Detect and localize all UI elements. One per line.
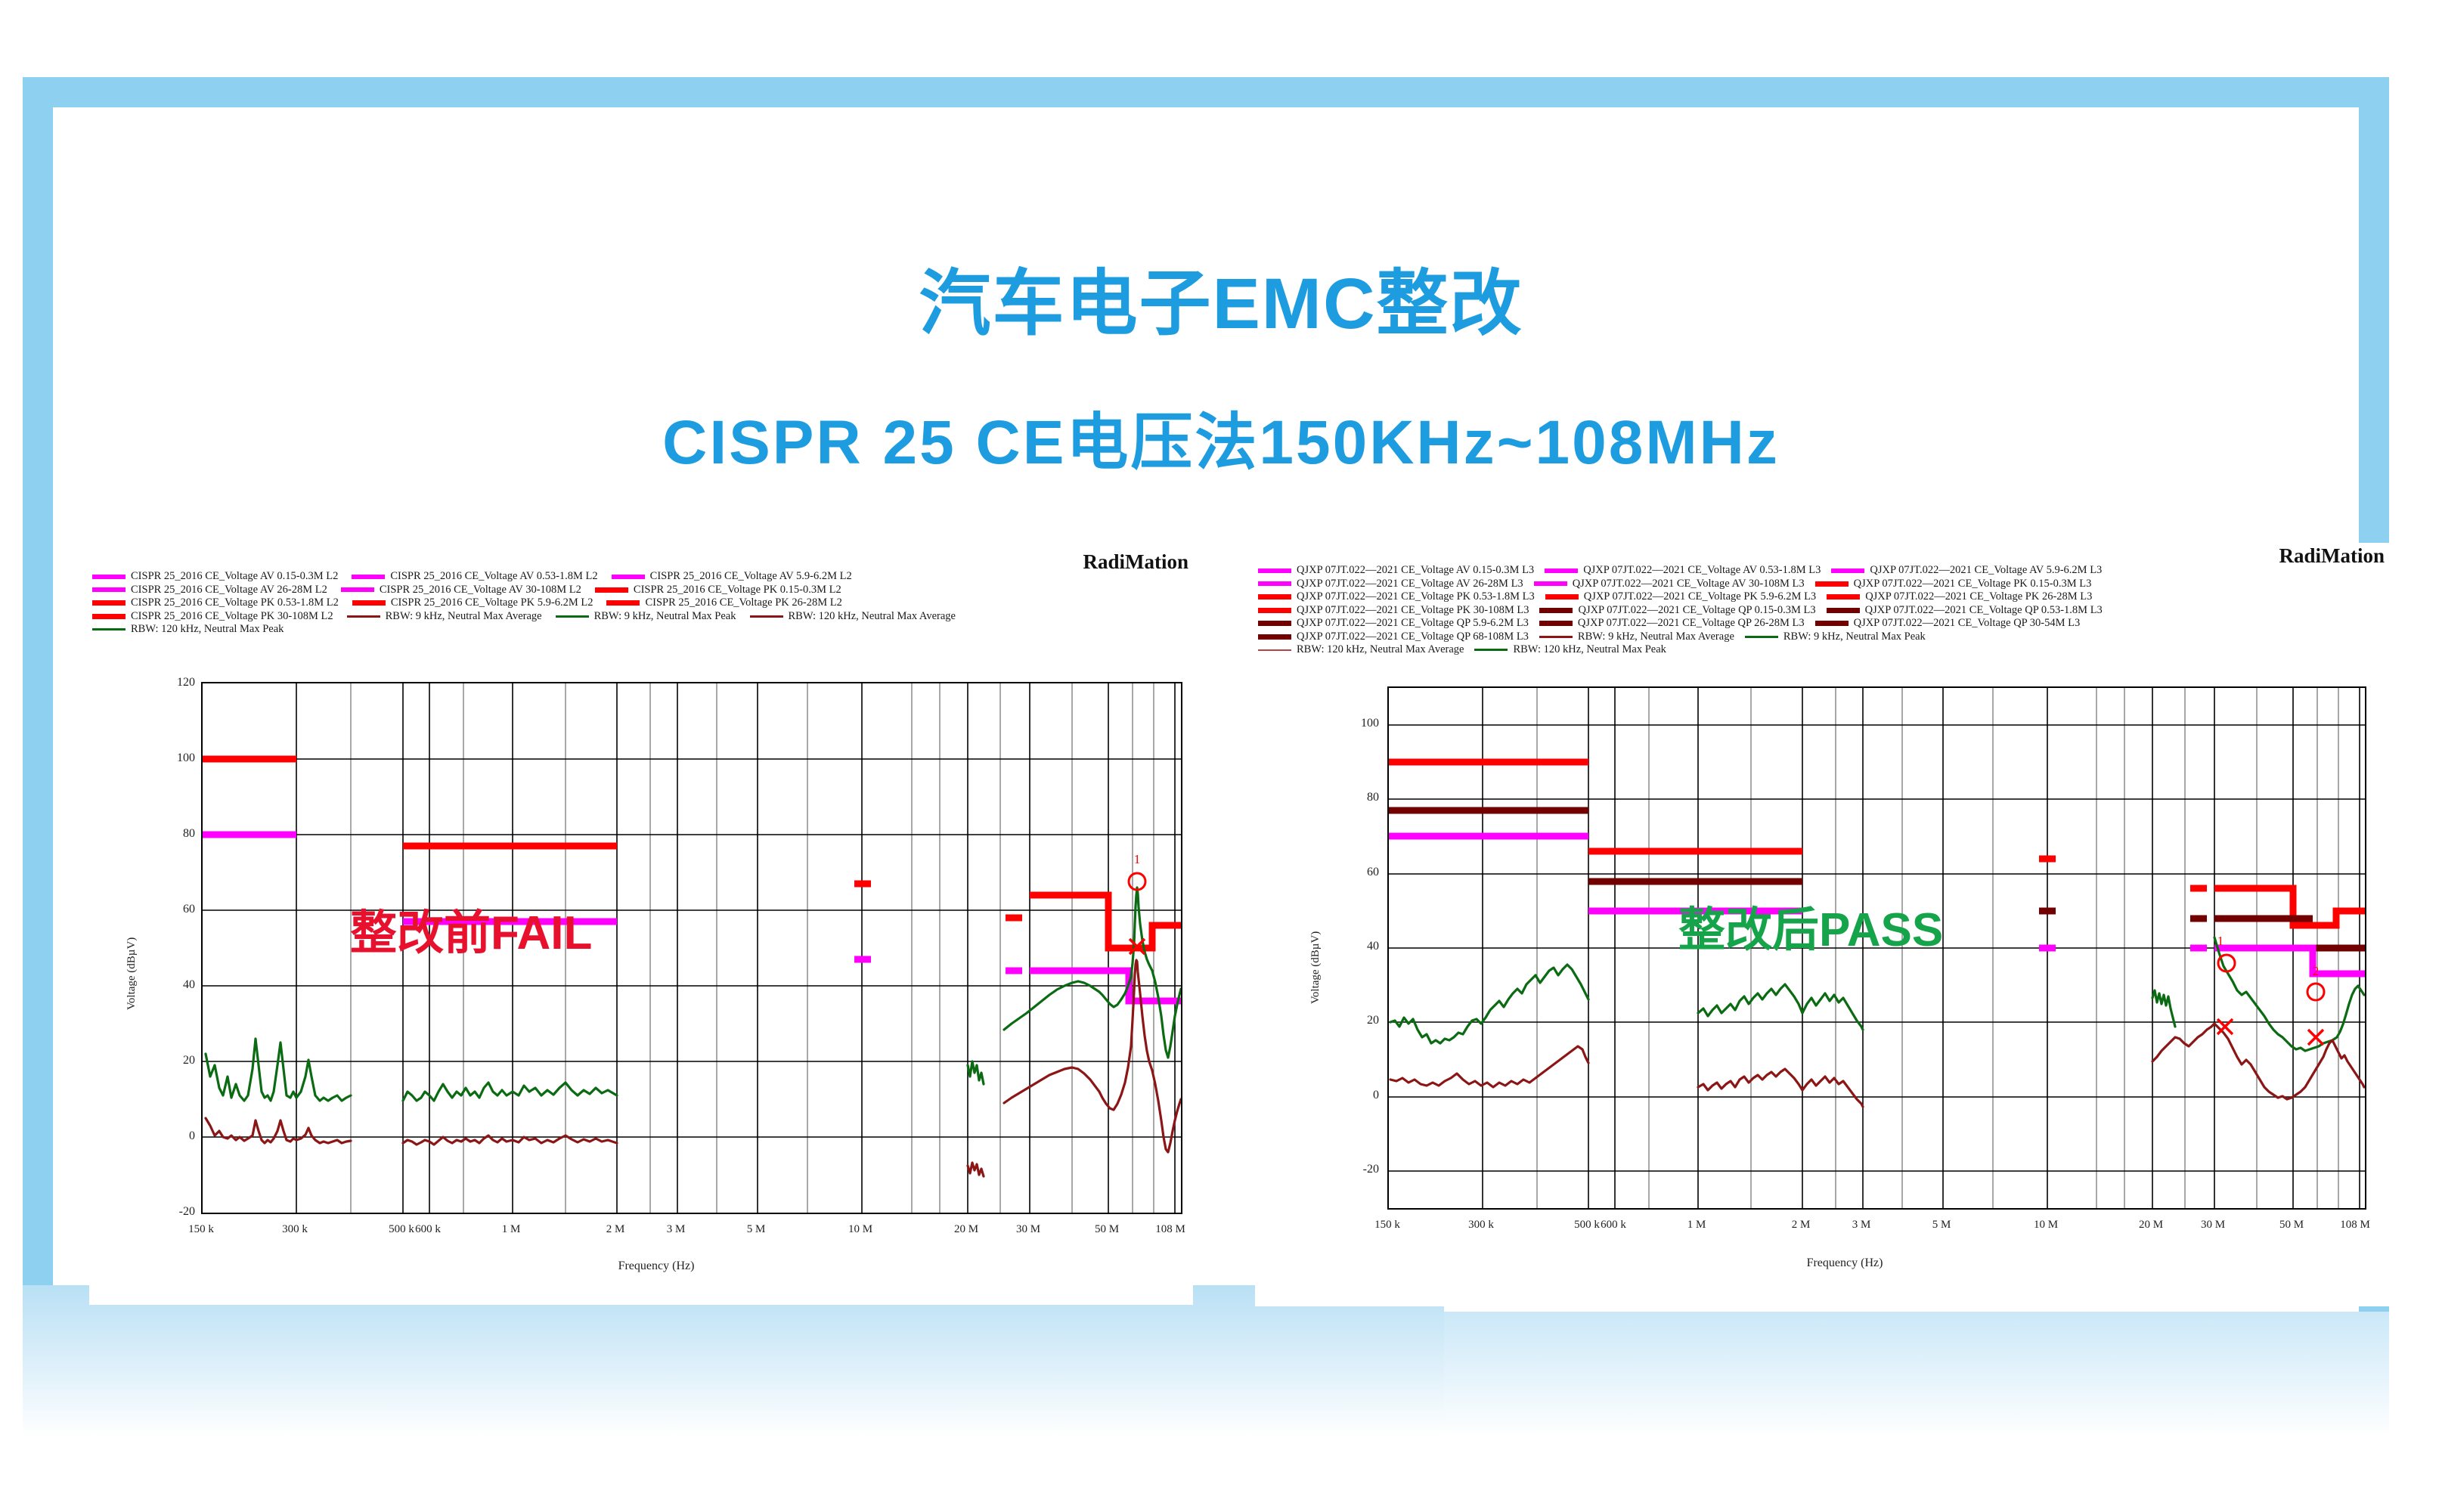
legend-swatch-icon xyxy=(1745,636,1778,638)
annotation-pass: 整改后PASS xyxy=(1678,907,1943,954)
legend-label: QJXP 07JT.022—2021 CE_Voltage AV 0.15-0.… xyxy=(1297,564,1534,577)
legend-item: CISPR 25_2016 CE_Voltage AV 30-108M L2 xyxy=(338,584,581,596)
legend-row: QJXP 07JT.022—2021 CE_Voltage PK 30-108M… xyxy=(1255,604,2389,618)
legend-item: CISPR 25_2016 CE_Voltage PK 0.15-0.3M L2 xyxy=(592,584,841,596)
y-axis-label-left: Voltage (dBµV) xyxy=(126,937,138,1010)
legend-swatch-icon xyxy=(595,587,628,593)
legend-swatch-icon xyxy=(1827,608,1860,613)
legend-swatch-icon xyxy=(1474,649,1508,651)
legend-label: RBW: 120 kHz, Neutral Max Average xyxy=(789,610,956,623)
xtick-left-5: 2 M xyxy=(593,1223,638,1236)
legend-swatch-icon xyxy=(1539,636,1573,638)
xtick-right-1: 300 k xyxy=(1458,1219,1504,1232)
ytick-right-4: 20 xyxy=(1340,1014,1379,1027)
legend-label: RBW: 120 kHz, Neutral Max Average xyxy=(1297,643,1464,656)
legend-swatch-icon xyxy=(341,587,374,592)
legend-item: RBW: 120 kHz, Neutral Max Peak xyxy=(89,623,284,636)
xtick-right-0: 150 k xyxy=(1365,1219,1410,1232)
legend-item: QJXP 07JT.022—2021 CE_Voltage AV 5.9-6.2… xyxy=(1828,564,2102,577)
page-title: 汽车电子EMC整改 xyxy=(0,268,2442,340)
legend-swatch-icon xyxy=(1258,569,1291,573)
legend-swatch-icon xyxy=(1545,569,1578,573)
y-axis-label-right: Voltage (dBµV) xyxy=(1309,931,1322,1004)
legend-item: RBW: 120 kHz, Neutral Max Average xyxy=(1255,643,1464,656)
ytick-right-5: 0 xyxy=(1340,1089,1379,1102)
ytick-left-4: 40 xyxy=(156,978,195,992)
trace-darkred-average-right xyxy=(1390,1024,2364,1107)
legend-item: QJXP 07JT.022—2021 CE_Voltage AV 0.15-0.… xyxy=(1255,564,1534,577)
legend-label: RBW: 9 kHz, Neutral Max Average xyxy=(1578,631,1734,643)
legend-item: CISPR 25_2016 CE_Voltage PK 26-28M L2 xyxy=(603,596,841,609)
legend-label: RBW: 9 kHz, Neutral Max Average xyxy=(386,610,542,623)
legend-item: QJXP 07JT.022—2021 CE_Voltage PK 0.15-0.… xyxy=(1812,578,2092,590)
xtick-right-9: 20 M xyxy=(2128,1219,2174,1232)
legend-label: CISPR 25_2016 CE_Voltage AV 30-108M L2 xyxy=(380,584,581,596)
legend-row: CISPR 25_2016 CE_Voltage PK 30-108M L2RB… xyxy=(89,610,1193,624)
legend-item: QJXP 07JT.022—2021 CE_Voltage AV 26-28M … xyxy=(1255,578,1523,590)
legend-label: CISPR 25_2016 CE_Voltage AV 26-28M L2 xyxy=(131,584,327,596)
ytick-left-5: 20 xyxy=(156,1054,195,1067)
legend-swatch-icon xyxy=(92,587,126,592)
legend-swatch-icon xyxy=(92,628,126,631)
legend-label: CISPR 25_2016 CE_Voltage AV 0.53-1.8M L2 xyxy=(390,570,597,583)
legend-row: CISPR 25_2016 CE_Voltage AV 0.15-0.3M L2… xyxy=(89,570,1193,584)
legend-item: RBW: 9 kHz, Neutral Max Peak xyxy=(1742,631,1926,643)
ytick-left-7: -20 xyxy=(151,1205,195,1219)
legend-swatch-icon xyxy=(1258,594,1291,600)
legend-row: QJXP 07JT.022—2021 CE_Voltage AV 0.15-0.… xyxy=(1255,564,2389,578)
legend-swatch-icon xyxy=(1258,581,1291,586)
legend-item: RBW: 120 kHz, Neutral Max Average xyxy=(747,610,956,623)
legend-item: RBW: 9 kHz, Neutral Max Average xyxy=(344,610,542,623)
legend-row: RBW: 120 kHz, Neutral Max Peak xyxy=(89,623,1193,637)
legend-label: QJXP 07JT.022—2021 CE_Voltage PK 0.53-1.… xyxy=(1297,590,1535,603)
legend-item: CISPR 25_2016 CE_Voltage AV 5.9-6.2M L2 xyxy=(609,570,852,583)
ytick-right-3: 40 xyxy=(1340,940,1379,953)
legend-row: QJXP 07JT.022—2021 CE_Voltage PK 0.53-1.… xyxy=(1255,590,2389,604)
xtick-right-10: 30 M xyxy=(2190,1219,2236,1232)
ytick-left-0: 120 xyxy=(156,676,195,689)
plot-area-left: 1 xyxy=(201,682,1182,1214)
legend-item: CISPR 25_2016 CE_Voltage AV 0.53-1.8M L2 xyxy=(349,570,597,583)
legend-row: RBW: 120 kHz, Neutral Max AverageRBW: 12… xyxy=(1255,643,2389,657)
legend-item: QJXP 07JT.022—2021 CE_Voltage QP 68-108M… xyxy=(1255,631,1529,643)
legend-label: QJXP 07JT.022—2021 CE_Voltage PK 30-108M… xyxy=(1297,604,1529,617)
legend-item: QJXP 07JT.022—2021 CE_Voltage QP 30-54M … xyxy=(1812,617,2081,630)
xtick-left-9: 20 M xyxy=(944,1223,989,1236)
legend-item: RBW: 120 kHz, Neutral Max Peak xyxy=(1471,643,1666,656)
svg-text:1: 1 xyxy=(1134,852,1141,866)
legend-swatch-icon xyxy=(92,600,126,606)
xtick-left-8: 10 M xyxy=(838,1223,883,1236)
legend-label: RBW: 120 kHz, Neutral Max Peak xyxy=(131,623,284,636)
legend-label: QJXP 07JT.022—2021 CE_Voltage AV 0.53-1.… xyxy=(1583,564,1821,577)
legend-label: QJXP 07JT.022—2021 CE_Voltage AV 30-108M… xyxy=(1573,578,1805,590)
legend-swatch-icon xyxy=(352,575,385,579)
legend-label: QJXP 07JT.022—2021 CE_Voltage QP 0.53-1.… xyxy=(1865,604,2103,617)
legend-swatch-icon xyxy=(1258,634,1291,640)
legend-item: QJXP 07JT.022—2021 CE_Voltage AV 0.53-1.… xyxy=(1542,564,1821,577)
xtick-right-3: 600 k xyxy=(1591,1219,1636,1232)
legend-swatch-icon xyxy=(1815,621,1849,626)
ytick-right-1: 80 xyxy=(1340,791,1379,804)
legend-swatch-icon xyxy=(612,575,645,579)
legend-label: QJXP 07JT.022—2021 CE_Voltage AV 5.9-6.2… xyxy=(1870,564,2102,577)
xtick-right-12: 108 M xyxy=(2332,1219,2378,1232)
legend-right: QJXP 07JT.022—2021 CE_Voltage AV 0.15-0.… xyxy=(1255,564,2389,657)
xtick-left-4: 1 M xyxy=(488,1223,534,1236)
annotation-fail: 整改前FAIL xyxy=(350,910,592,957)
x-axis-label-left: Frequency (Hz) xyxy=(558,1259,755,1273)
legend-swatch-icon xyxy=(347,615,380,618)
legend-swatch-icon xyxy=(92,575,126,579)
bottom-gradient-left xyxy=(23,1285,1444,1436)
xtick-left-10: 30 M xyxy=(1006,1223,1051,1236)
svg-text:1: 1 xyxy=(2217,934,2224,948)
xtick-left-6: 3 M xyxy=(653,1223,699,1236)
legend-item: QJXP 07JT.022—2021 CE_Voltage PK 5.9-6.2… xyxy=(1542,590,1816,603)
trace-darkred-average-left xyxy=(206,960,1181,1176)
ytick-left-6: 0 xyxy=(156,1129,195,1143)
ytick-right-2: 60 xyxy=(1340,866,1379,879)
legend-label: QJXP 07JT.022—2021 CE_Voltage QP 5.9-6.2… xyxy=(1297,617,1529,630)
legend-item: CISPR 25_2016 CE_Voltage AV 0.15-0.3M L2 xyxy=(89,570,338,583)
xtick-right-8: 10 M xyxy=(2023,1219,2069,1232)
legend-item: CISPR 25_2016 CE_Voltage PK 0.53-1.8M L2 xyxy=(89,596,339,609)
legend-item: RBW: 9 kHz, Neutral Max Average xyxy=(1536,631,1734,643)
xtick-left-11: 50 M xyxy=(1084,1223,1130,1236)
legend-row: CISPR 25_2016 CE_Voltage AV 26-28M L2CIS… xyxy=(89,584,1193,597)
ytick-left-2: 80 xyxy=(156,827,195,841)
legend-item: QJXP 07JT.022—2021 CE_Voltage QP 5.9-6.2… xyxy=(1255,617,1529,630)
x-axis-label-right: Frequency (Hz) xyxy=(1746,1256,1943,1270)
legend-label: QJXP 07JT.022—2021 CE_Voltage PK 5.9-6.2… xyxy=(1584,590,1816,603)
legend-item: CISPR 25_2016 CE_Voltage AV 26-28M L2 xyxy=(89,584,327,596)
legend-swatch-icon xyxy=(1539,621,1573,626)
legend-label: RBW: 120 kHz, Neutral Max Peak xyxy=(1513,643,1666,656)
legend-item: CISPR 25_2016 CE_Voltage PK 30-108M L2 xyxy=(89,610,333,623)
legend-row: QJXP 07JT.022—2021 CE_Voltage AV 26-28M … xyxy=(1255,578,2389,591)
legend-label: QJXP 07JT.022—2021 CE_Voltage QP 26-28M … xyxy=(1578,617,1805,630)
legend-item: QJXP 07JT.022—2021 CE_Voltage AV 30-108M… xyxy=(1531,578,1805,590)
xtick-left-7: 5 M xyxy=(733,1223,779,1236)
legend-item: QJXP 07JT.022—2021 CE_Voltage PK 0.53-1.… xyxy=(1255,590,1535,603)
legend-swatch-icon xyxy=(1534,581,1567,586)
legend-label: CISPR 25_2016 CE_Voltage PK 0.15-0.3M L2 xyxy=(634,584,841,596)
xtick-left-3: 600 k xyxy=(405,1223,451,1236)
page-subtitle: CISPR 25 CE电压法150KHz~108MHz xyxy=(0,412,2442,474)
svg-text:2: 2 xyxy=(2313,964,2320,978)
legend-row: QJXP 07JT.022—2021 CE_Voltage QP 5.9-6.2… xyxy=(1255,617,2389,631)
ytick-right-0: 100 xyxy=(1340,717,1379,730)
legend-label: QJXP 07JT.022—2021 CE_Voltage PK 0.15-0.… xyxy=(1854,578,2092,590)
legend-left: CISPR 25_2016 CE_Voltage AV 0.15-0.3M L2… xyxy=(89,570,1193,637)
legend-swatch-icon xyxy=(92,614,126,619)
legend-label: CISPR 25_2016 CE_Voltage PK 26-28M L2 xyxy=(645,596,841,609)
chart-before-modification: RadiMation CISPR 25_2016 CE_Voltage AV 0… xyxy=(89,549,1193,1305)
legend-item: RBW: 9 kHz, Neutral Max Peak xyxy=(553,610,736,623)
legend-item: CISPR 25_2016 CE_Voltage PK 5.9-6.2M L2 xyxy=(349,596,593,609)
legend-swatch-icon xyxy=(1545,594,1579,600)
xtick-left-12: 108 M xyxy=(1148,1223,1193,1236)
legend-label: QJXP 07JT.022—2021 CE_Voltage QP 30-54M … xyxy=(1854,617,2081,630)
legend-label: CISPR 25_2016 CE_Voltage AV 5.9-6.2M L2 xyxy=(650,570,852,583)
legend-swatch-icon xyxy=(1827,594,1860,600)
xtick-right-11: 50 M xyxy=(2269,1219,2314,1232)
xtick-right-6: 3 M xyxy=(1839,1219,1884,1232)
legend-item: QJXP 07JT.022—2021 CE_Voltage QP 0.15-0.… xyxy=(1536,604,1815,617)
legend-label: CISPR 25_2016 CE_Voltage AV 0.15-0.3M L2 xyxy=(131,570,338,583)
legend-row: QJXP 07JT.022—2021 CE_Voltage QP 68-108M… xyxy=(1255,631,2389,644)
legend-label: QJXP 07JT.022—2021 CE_Voltage QP 68-108M… xyxy=(1297,631,1529,643)
legend-swatch-icon xyxy=(1258,649,1291,651)
legend-item: QJXP 07JT.022—2021 CE_Voltage PK 26-28M … xyxy=(1824,590,2092,603)
xtick-right-4: 1 M xyxy=(1674,1219,1719,1232)
legend-swatch-icon xyxy=(556,615,589,618)
limit-lines-left xyxy=(203,759,1181,1001)
legend-label: QJXP 07JT.022—2021 CE_Voltage AV 26-28M … xyxy=(1297,578,1523,590)
xtick-right-5: 2 M xyxy=(1778,1219,1824,1232)
legend-label: RBW: 9 kHz, Neutral Max Peak xyxy=(594,610,736,623)
legend-label: CISPR 25_2016 CE_Voltage PK 5.9-6.2M L2 xyxy=(391,596,593,609)
legend-label: CISPR 25_2016 CE_Voltage PK 30-108M L2 xyxy=(131,610,333,623)
legend-label: QJXP 07JT.022—2021 CE_Voltage PK 26-28M … xyxy=(1865,590,2092,603)
ytick-left-1: 100 xyxy=(156,751,195,765)
legend-item: QJXP 07JT.022—2021 CE_Voltage QP 26-28M … xyxy=(1536,617,1805,630)
legend-swatch-icon xyxy=(1258,608,1291,613)
legend-item: QJXP 07JT.022—2021 CE_Voltage QP 0.53-1.… xyxy=(1824,604,2103,617)
ytick-left-3: 60 xyxy=(156,903,195,916)
chart-after-modification: RadiMation QJXP 07JT.022—2021 CE_Voltage… xyxy=(1255,543,2389,1306)
xtick-right-7: 5 M xyxy=(1919,1219,1964,1232)
legend-label: QJXP 07JT.022—2021 CE_Voltage QP 0.15-0.… xyxy=(1578,604,1815,617)
legend-swatch-icon xyxy=(352,600,386,606)
legend-item: QJXP 07JT.022—2021 CE_Voltage PK 30-108M… xyxy=(1255,604,1529,617)
bottom-gradient-right xyxy=(1444,1312,2389,1436)
legend-label: RBW: 9 kHz, Neutral Max Peak xyxy=(1783,631,1926,643)
ytick-right-6: -20 xyxy=(1335,1163,1379,1176)
legend-swatch-icon xyxy=(1831,569,1864,573)
legend-swatch-icon xyxy=(750,615,783,618)
legend-swatch-icon xyxy=(606,600,640,606)
xtick-left-1: 300 k xyxy=(272,1223,318,1236)
xtick-left-0: 150 k xyxy=(178,1223,224,1236)
legend-swatch-icon xyxy=(1539,608,1573,613)
legend-label: CISPR 25_2016 CE_Voltage PK 0.53-1.8M L2 xyxy=(131,596,339,609)
legend-row: CISPR 25_2016 CE_Voltage PK 0.53-1.8M L2… xyxy=(89,596,1193,610)
legend-swatch-icon xyxy=(1815,581,1849,587)
legend-swatch-icon xyxy=(1258,621,1291,626)
